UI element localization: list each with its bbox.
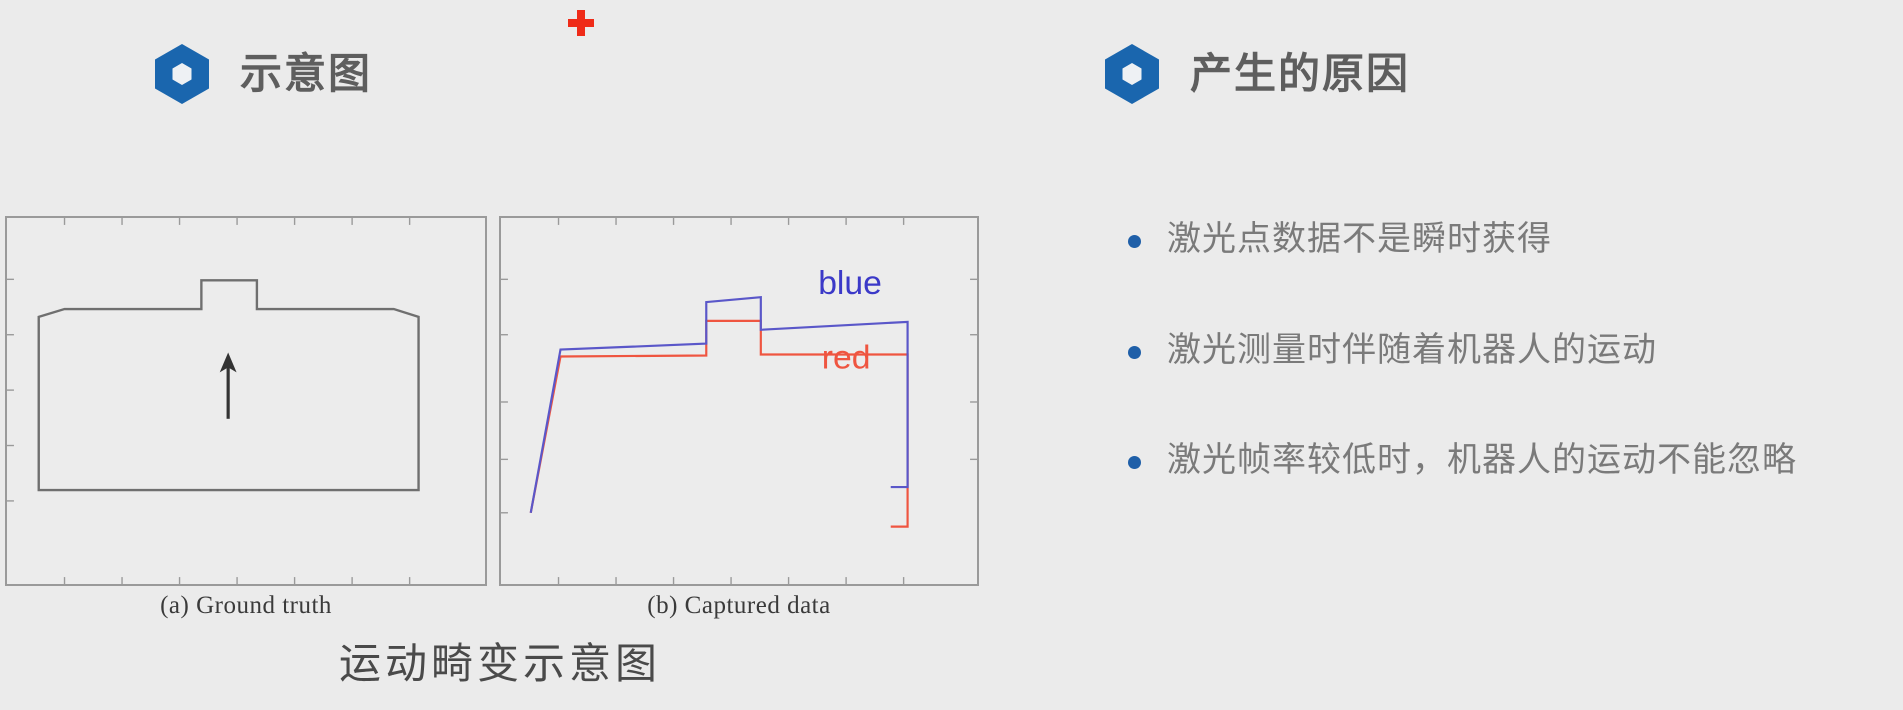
motion-distortion-figure: blue red (a) Ground truth (b) Captured d… [0, 210, 1000, 710]
hexagon-icon [150, 42, 214, 106]
captured-data-plot: blue red [501, 218, 977, 584]
heading-arrow-icon [220, 353, 237, 419]
figure-caption-a: (a) Ground truth [5, 592, 487, 620]
hexagon-icon [1100, 42, 1164, 106]
section-heading-left: 示意图 [150, 42, 372, 106]
axis-ticks [7, 218, 410, 584]
list-item: 激光帧率较低时，机器人的运动不能忽略 [1128, 439, 1888, 482]
list-item-label: 激光点数据不是瞬时获得 [1167, 218, 1552, 261]
figure-panel-captured-data: blue red [499, 216, 979, 586]
bullet-dot-icon [1128, 456, 1141, 469]
bullet-dot-icon [1128, 346, 1141, 359]
list-item-label: 激光测量时伴随着机器人的运动 [1167, 329, 1657, 372]
ground-truth-plot [7, 218, 485, 584]
reason-list: 激光点数据不是瞬时获得 激光测量时伴随着机器人的运动 激光帧率较低时，机器人的运… [1128, 218, 1888, 550]
figure-caption-b: (b) Captured data [499, 592, 979, 620]
section-heading-right-label: 产生的原因 [1190, 53, 1410, 95]
figure-title: 运动畸变示意图 [0, 630, 1000, 691]
section-heading-right: 产生的原因 [1100, 42, 1410, 106]
captured-scan-blue [531, 297, 908, 513]
list-item-label: 激光帧率较低时，机器人的运动不能忽略 [1167, 439, 1797, 482]
bullet-dot-icon [1128, 235, 1141, 248]
axis-ticks [501, 218, 977, 584]
red-cross-marker [566, 8, 596, 38]
list-item: 激光测量时伴随着机器人的运动 [1128, 329, 1888, 372]
legend-label-red: red [822, 339, 871, 376]
figure-panel-ground-truth [5, 216, 487, 586]
legend-label-blue: blue [818, 265, 882, 302]
section-heading-left-label: 示意图 [240, 53, 372, 95]
list-item: 激光点数据不是瞬时获得 [1128, 218, 1888, 261]
